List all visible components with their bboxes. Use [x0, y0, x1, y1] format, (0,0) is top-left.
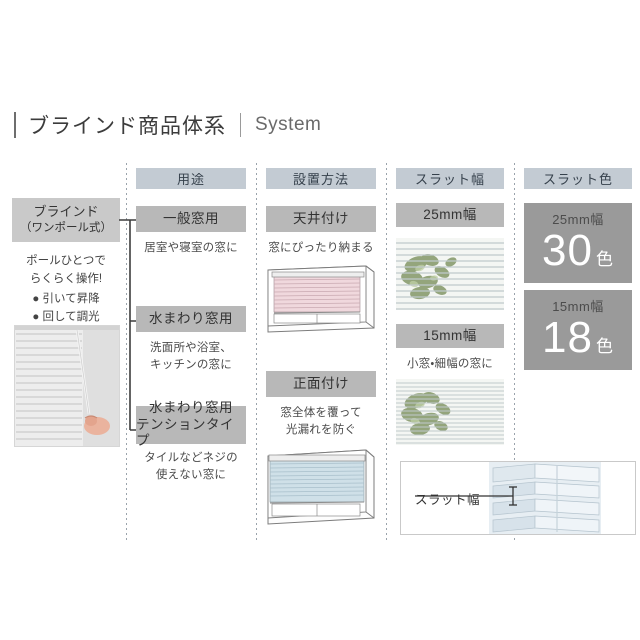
use-item-box-2[interactable]: 水まわり窓用	[136, 306, 246, 332]
page-title: ブラインド商品体系 System	[14, 108, 321, 142]
product-desc-line-2: らくらく操作!	[10, 270, 122, 288]
slat-width-label-1: 25mm幅	[423, 207, 477, 224]
use-item-label-1: 一般窓用	[163, 211, 219, 228]
ceiling-mount-blind-diagram-icon	[262, 258, 380, 338]
install-item-caption-2-line-2: 光漏れを防ぐ	[261, 422, 381, 439]
use-item-label-3a: 水まわり窓用	[149, 400, 233, 417]
slat-color-count-2: 18	[542, 317, 593, 359]
slat-color-count-group-2: 18 色	[542, 317, 614, 359]
install-item-box-1[interactable]: 天井付け	[266, 206, 376, 232]
product-bullet-2: ● 回して調光	[32, 308, 99, 326]
slat-color-unit-1: 色	[596, 252, 614, 268]
slat-width-item-box-2[interactable]: 15mm幅	[396, 324, 504, 348]
use-item-caption-3: タイルなどネジの 使えない窓に	[131, 450, 251, 483]
slat-width-callout-label: スラット幅	[415, 489, 480, 508]
use-item-caption-2: 洗面所や浴室、 キッチンの窓に	[131, 340, 251, 373]
catalog-page: ブラインド商品体系 System 用途 設置方法 スラット幅 スラット色 ブライ…	[0, 0, 640, 640]
install-item-label-2: 正面付け	[293, 376, 349, 393]
slat-width-callout: スラット幅	[400, 461, 636, 535]
plant-through-25mm-blinds-photo-icon	[396, 238, 504, 310]
install-item-caption-2-line-1: 窓全体を覆って	[261, 405, 381, 422]
slat-width-caption-2: 小窓・細幅の窓に	[392, 356, 508, 373]
use-item-box-3[interactable]: 水まわり窓用 テンションタイプ	[136, 406, 246, 444]
slat-color-box-2[interactable]: 15mm幅 18 色	[524, 290, 632, 370]
slat-width-photo-1	[396, 238, 504, 310]
slat-color-count-group-1: 30 色	[542, 230, 614, 272]
use-item-caption-3-line-2: 使えない窓に	[131, 467, 251, 484]
use-item-label-3b: テンションタイプ	[136, 417, 246, 451]
column-header-slat-color: スラット色	[524, 168, 632, 189]
use-item-caption-2-line-2: キッチンの窓に	[131, 357, 251, 374]
slat-width-label-2: 15mm幅	[423, 328, 477, 345]
product-bullet-1: ● 引いて昇降	[32, 290, 99, 308]
column-divider-3	[386, 163, 387, 541]
slat-width-photo-2	[396, 379, 504, 445]
use-item-box-1[interactable]: 一般窓用	[136, 206, 246, 232]
front-mount-blind-diagram-icon	[262, 440, 380, 526]
use-item-caption-3-line-1: タイルなどネジの	[131, 450, 251, 467]
title-accent-bar	[14, 112, 16, 138]
product-name-box: ブラインド （ワンポール式）	[12, 198, 120, 242]
product-name: ブラインド	[33, 204, 98, 221]
slat-color-unit-2: 色	[596, 339, 614, 355]
product-photo	[14, 325, 120, 447]
page-title-jp: ブラインド商品体系	[28, 110, 226, 140]
product-desc-line-1: ポールひとつで	[10, 252, 122, 270]
blind-with-wand-photo-icon	[15, 326, 119, 446]
product-subtype: （ワンポール式）	[20, 221, 112, 236]
install-item-box-2[interactable]: 正面付け	[266, 371, 376, 397]
column-header-install: 設置方法	[266, 168, 376, 189]
slat-color-box-1[interactable]: 25mm幅 30 色	[524, 203, 632, 283]
slat-width-item-box-1[interactable]: 25mm幅	[396, 203, 504, 227]
column-header-use: 用途	[136, 168, 246, 189]
plant-through-15mm-blinds-photo-icon	[396, 379, 504, 445]
install-item-label-1: 天井付け	[293, 211, 349, 228]
column-divider-2	[256, 163, 257, 541]
install-item-caption-1: 窓にぴったり納まる	[261, 240, 381, 257]
column-header-slat-width: スラット幅	[396, 168, 504, 189]
title-separator-bar	[240, 113, 241, 137]
use-item-caption-1: 居室や寝室の窓に	[131, 240, 251, 257]
use-item-label-2: 水まわり窓用	[149, 311, 233, 328]
page-title-en: System	[255, 114, 321, 136]
slat-color-count-1: 30	[542, 230, 593, 272]
use-item-caption-2-line-1: 洗面所や浴室、	[131, 340, 251, 357]
product-description: ポールひとつで らくらく操作! ● 引いて昇降 ● 回して調光	[10, 252, 122, 327]
install-item-caption-2: 窓全体を覆って 光漏れを防ぐ	[261, 405, 381, 438]
